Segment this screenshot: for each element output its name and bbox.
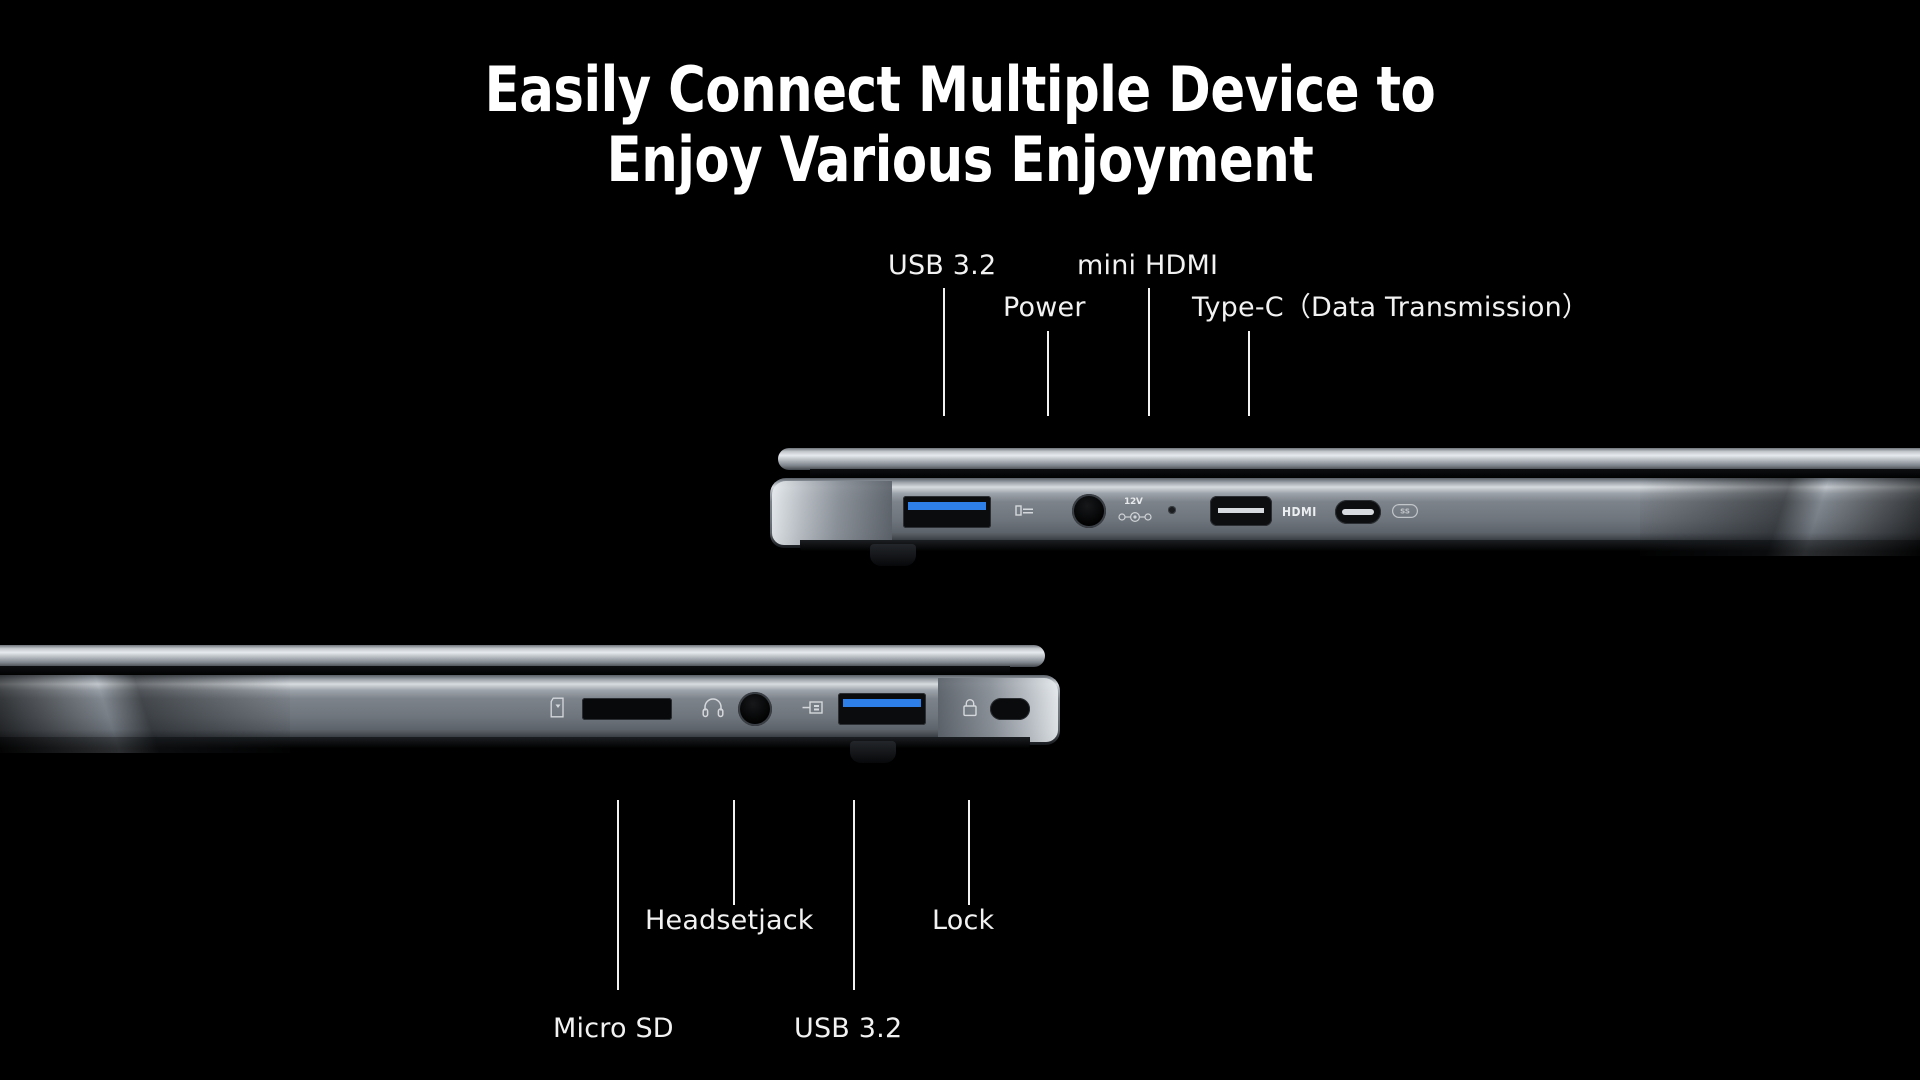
port-row-top: 12V HDMI: [770, 492, 1920, 536]
callout-label-lock: Lock: [932, 907, 994, 934]
leader-line-usb32-top: [943, 288, 945, 416]
kensington-lock-slot-bottom[interactable]: [990, 698, 1030, 720]
callout-label-power: Power: [1003, 294, 1086, 321]
leader-line-headsetjack: [733, 800, 735, 905]
callout-label-type-c: Type-C（Data Transmission）: [1192, 294, 1589, 321]
leader-line-lock: [968, 800, 970, 905]
type-c-port-tongue: [1342, 509, 1374, 515]
superspeed-icon-top: SS: [1392, 504, 1418, 518]
lock-icon-bottom: [962, 698, 978, 717]
leader-line-micro-sd: [617, 800, 619, 990]
headline-line-2: Enjoy Various Enjoyment: [77, 125, 1843, 195]
mini-hdmi-port-top[interactable]: [1210, 496, 1272, 526]
callout-label-mini-hdmi: mini HDMI: [1077, 252, 1218, 279]
laptop-right-side-view: 12V HDMI: [770, 448, 1920, 568]
power-indicator-led: [1168, 506, 1176, 514]
power-jack-top[interactable]: [1072, 494, 1106, 528]
headline-line-1: Easily Connect Multiple Device to: [77, 55, 1843, 125]
usb-a-port-bottom[interactable]: [838, 693, 926, 725]
micro-sd-slot-bottom[interactable]: [582, 698, 672, 720]
leader-line-mini-hdmi: [1148, 288, 1150, 416]
laptop-left-side-view: [0, 645, 1060, 765]
port-row-bottom: [0, 689, 1060, 733]
usb-port-blue-insert-bottom: [843, 699, 921, 707]
svg-text:SS: SS: [1400, 508, 1410, 516]
usb-a-port-top[interactable]: [903, 496, 991, 528]
hdmi-marking-label: HDMI: [1282, 506, 1317, 518]
type-c-port-top[interactable]: [1335, 500, 1381, 524]
sd-card-icon-bottom: [550, 697, 566, 718]
laptop-lid-top: [778, 448, 1920, 470]
callout-label-headsetjack: Headsetjack: [645, 907, 814, 934]
usb-icon-bottom: [802, 698, 824, 717]
hdmi-port-contact-strip: [1218, 508, 1264, 513]
callout-label-usb32-top: USB 3.2: [888, 252, 996, 279]
callout-label-micro-sd: Micro SD: [553, 1015, 674, 1042]
page-title: Easily Connect Multiple Device to Enjoy …: [77, 55, 1843, 195]
headphone-icon-bottom: [702, 697, 724, 718]
headset-jack-bottom[interactable]: [738, 692, 772, 726]
usb-port-blue-insert: [908, 502, 986, 510]
callout-label-usb32-bottom: USB 3.2: [794, 1015, 902, 1042]
leader-line-type-c: [1248, 331, 1250, 416]
usb-icon-top: [1015, 502, 1035, 520]
laptop-lid-bottom: [0, 645, 1045, 667]
leader-line-usb32-bottom: [853, 800, 855, 990]
power-polarity-icon: [1118, 511, 1152, 523]
laptop-foot-bottom: [850, 741, 896, 763]
leader-line-power: [1047, 331, 1049, 416]
laptop-foot-top: [870, 544, 916, 566]
power-rating-label: 12V: [1124, 498, 1143, 507]
product-feature-slide: Easily Connect Multiple Device to Enjoy …: [0, 0, 1920, 1080]
